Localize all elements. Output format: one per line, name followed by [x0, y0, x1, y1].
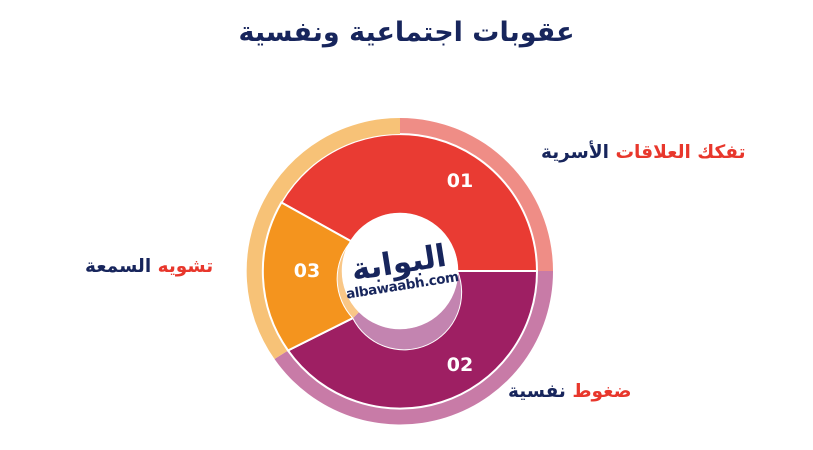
slice-02-number: 02 [447, 354, 473, 376]
callout-family-highlight: تفكك العلاقات [615, 142, 745, 163]
callout-label-family: تفكك العلاقات الأسرية [541, 142, 746, 164]
slice-03-number: 03 [294, 260, 320, 282]
callout-label-psych: ضغوط نفسية [508, 381, 631, 403]
callout-label-reputation: تشويه السمعة [85, 256, 213, 278]
callout-psych-body: نفسية [508, 381, 566, 402]
callout-reputation-body: السمعة [85, 256, 151, 277]
page-title: عقوبات اجتماعية ونفسية [0, 16, 813, 50]
brand-logo: البوابة albawaabh.com [342, 213, 458, 329]
infographic-canvas: عقوبات اجتماعية ونفسية 01 02 [0, 0, 813, 450]
callout-reputation-highlight: تشويه [158, 256, 214, 277]
slice-01-number: 01 [447, 170, 473, 192]
callout-family-body: الأسرية [541, 142, 609, 163]
callout-psych-highlight: ضغوط [572, 381, 631, 402]
